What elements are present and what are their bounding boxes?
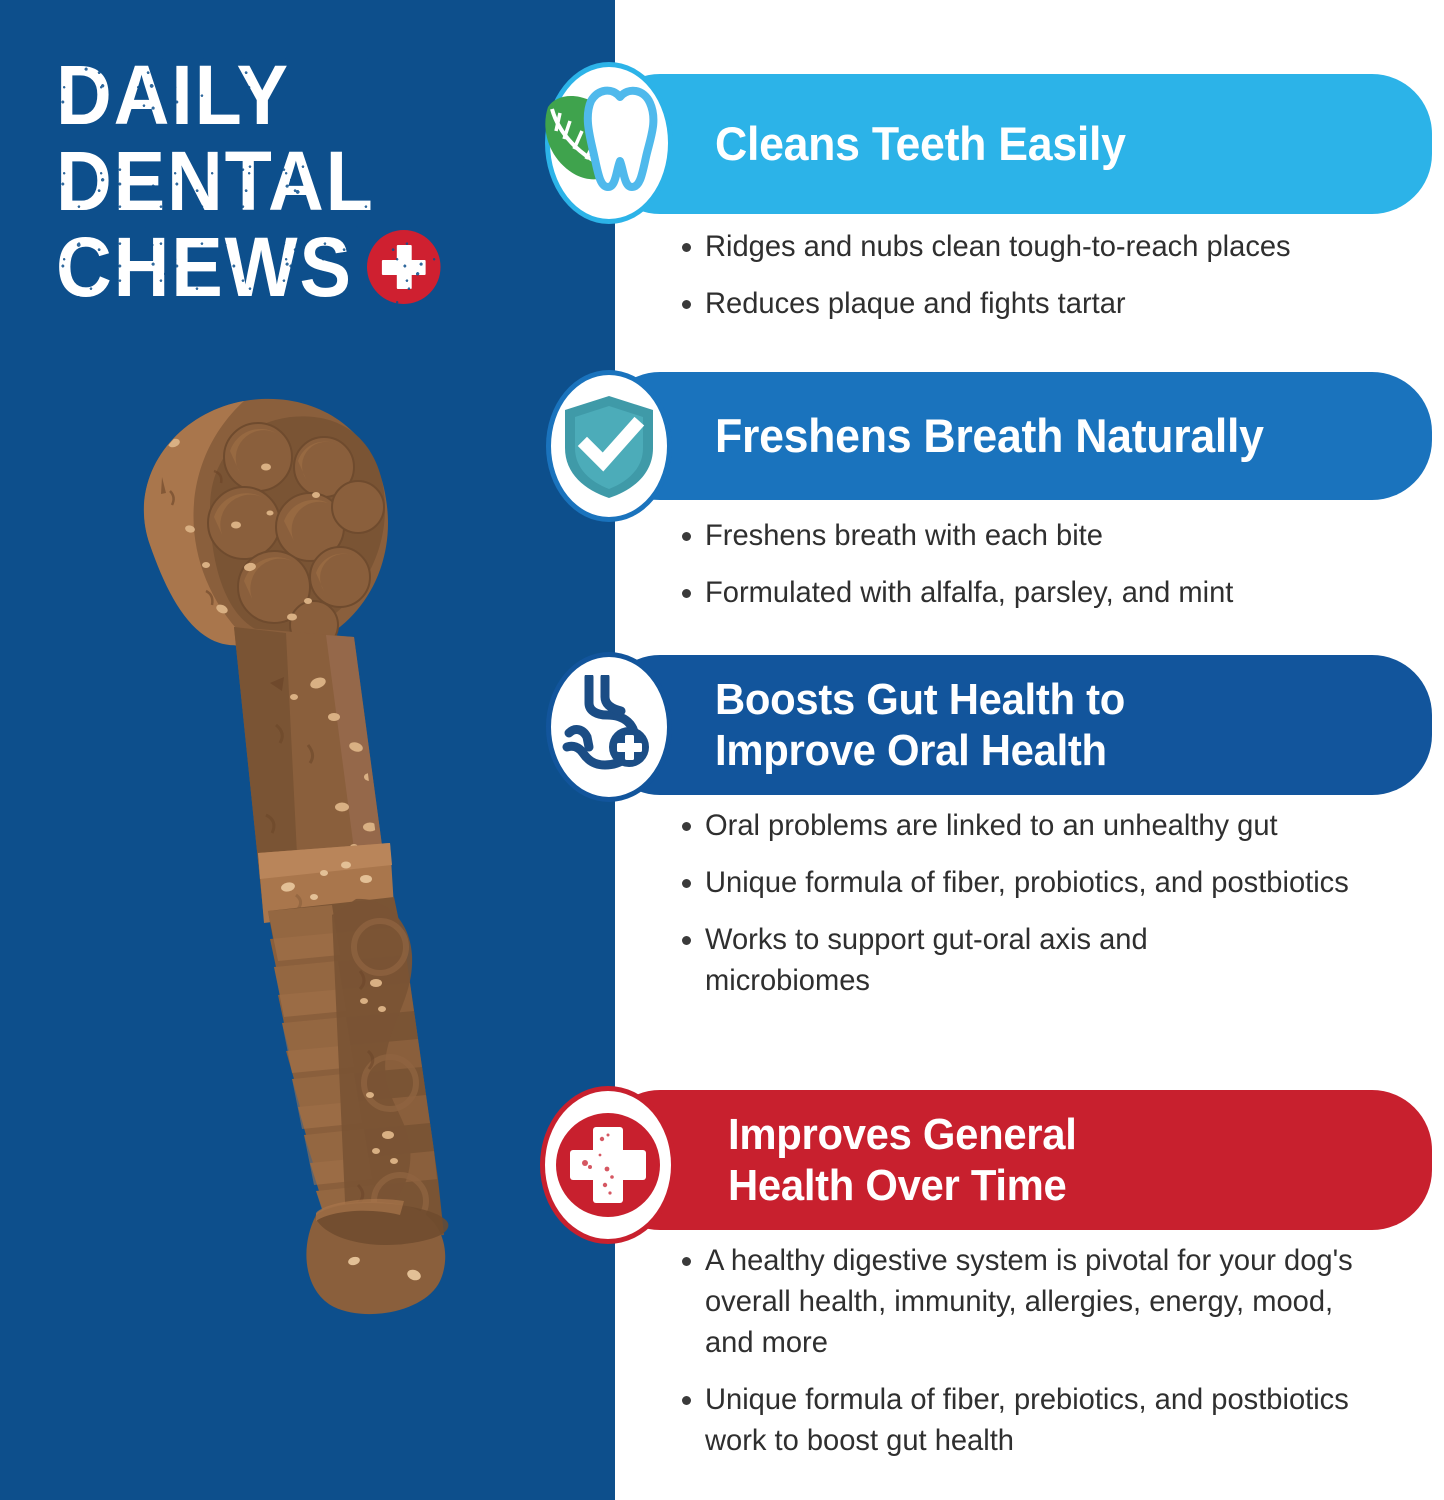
tooth-with-mint-leaf-icon [545,62,673,224]
bullet-dot-icon [682,532,691,541]
list-item: Formulated with alfalfa, parsley, and mi… [682,572,1427,613]
bullet-dot-icon [682,589,691,598]
feature-title-boosts-gut-health: Boosts Gut Health to Improve Oral Health [715,674,1125,776]
bullet-dot-icon [682,1257,691,1266]
feature-bullets-freshens-breath: Freshens breath with each bite Formulate… [682,515,1427,629]
list-item: Unique formula of fiber, probiotics, and… [682,862,1427,903]
list-item: Works to support gut-oral axis and micro… [682,919,1427,1001]
bullet-dot-icon [682,1396,691,1405]
feature-pill-improves-general-health[interactable]: Improves General Health Over Time [600,1090,1432,1230]
feature-bullets-improves-general-health: A healthy digestive system is pivotal fo… [682,1240,1427,1477]
feature-pill-boosts-gut-health[interactable]: Boosts Gut Health to Improve Oral Health [600,655,1432,795]
shield-check-icon [546,370,672,522]
list-item: Oral problems are linked to an unhealthy… [682,805,1427,846]
infographic-root: Daily Dental Chews [0,0,1444,1500]
feature-bullets-boosts-gut-health: Oral problems are linked to an unhealthy… [682,805,1427,1017]
bullet-dot-icon [682,822,691,831]
stomach-plus-icon [546,652,672,802]
list-item: Freshens breath with each bite [682,515,1427,556]
list-item: Unique formula of fiber, prebiotics, and… [682,1379,1427,1461]
bullet-dot-icon [682,879,691,888]
medical-cross-circle-icon [540,1086,676,1244]
list-item: A healthy digestive system is pivotal fo… [682,1240,1427,1363]
feature-improves-general-health: Improves General Health Over Time [0,0,1444,420]
feature-title-improves-general-health: Improves General Health Over Time [728,1109,1077,1211]
bullet-dot-icon [682,936,691,945]
dog-dental-chew-illustration [118,395,498,1355]
